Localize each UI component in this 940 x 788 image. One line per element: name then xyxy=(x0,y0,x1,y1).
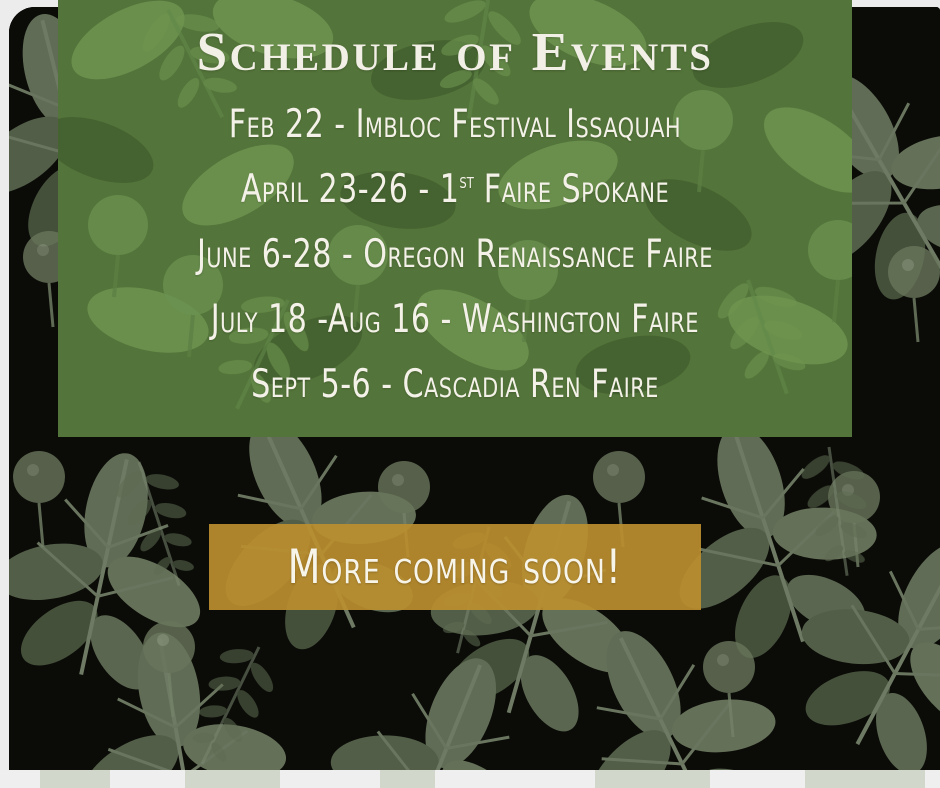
list-item: April 23-26 - 1st Faire Spokane xyxy=(241,158,669,222)
list-item: June 6-28 - Oregon Renaissance Faire xyxy=(197,223,713,287)
event-list: Feb 22 - Imbloc Festival Issaquah April … xyxy=(58,93,852,417)
coming-soon-label: More coming soon! xyxy=(288,544,622,591)
list-item: Sept 5-6 - Cascadia Ren Faire xyxy=(251,353,659,417)
coming-soon-banner: More coming soon! xyxy=(209,524,701,610)
list-item: Feb 22 - Imbloc Festival Issaquah xyxy=(229,93,681,157)
event-text-after-superscript: Faire Spokane xyxy=(474,167,669,212)
bottom-wash-strip xyxy=(0,770,940,788)
ordinal-superscript: st xyxy=(459,169,473,194)
schedule-panel: Schedule of Events Feb 22 - Imbloc Festi… xyxy=(58,0,852,437)
event-text-before-superscript: April 23-26 - 1 xyxy=(241,167,459,212)
page-title: Schedule of Events xyxy=(197,24,714,79)
poster-frame: Schedule of Events Feb 22 - Imbloc Festi… xyxy=(0,0,940,788)
list-item: July 18 -Aug 16 - Washington Faire xyxy=(211,288,699,352)
schedule-content: Schedule of Events Feb 22 - Imbloc Festi… xyxy=(58,0,852,437)
